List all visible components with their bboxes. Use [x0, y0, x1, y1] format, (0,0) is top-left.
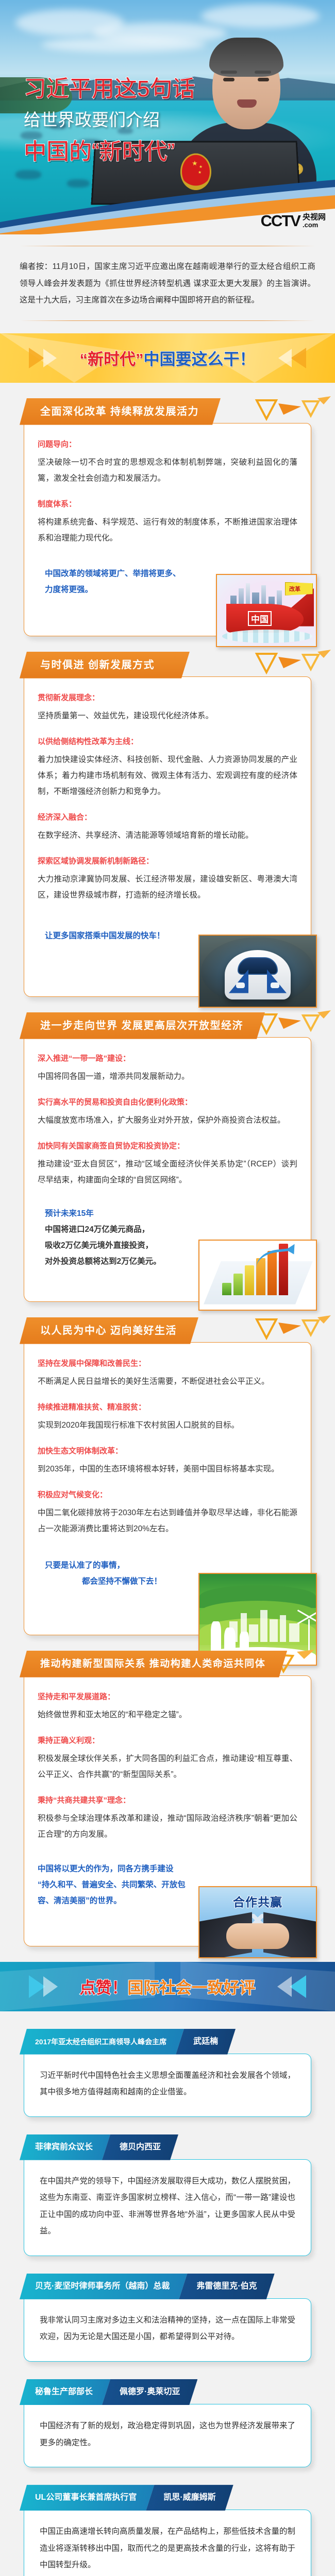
block-subtitle: 贯彻新发展理念：: [38, 690, 297, 706]
quote-body: 习近平新时代中国特色社会主义思想全面覆盖经济和社会发展各个领域，其中很多地方值得…: [24, 2054, 311, 2117]
block-subtitle: 秉持“共商共建共享”理念：: [38, 1793, 297, 1808]
section-card-5: 推动构建新型国际关系 推动构建人类命运共同体 坚持走和平发展道路： 始终做世界和…: [24, 1651, 311, 1946]
section-body-3: 深入推进“一带一路”建设： 中国将同各国一道，增添共同发展新动力。 实行高水平的…: [24, 1037, 311, 1302]
quote-body: 中国经济有了新的规划，政治稳定得到巩固，这也为世界经济发展带来了更多的确定性。: [24, 2404, 311, 2467]
arrow-left-icon: [277, 1976, 292, 1997]
cctv-logo-cn: 央视网: [303, 213, 326, 222]
section-card-3: 进一步走向世界 发展更高层次开放型经济 深入推进“一带一路”建设： 中国将同各国…: [24, 1012, 311, 1302]
forecast-line-1: 中国将进口24万亿美元商品，: [38, 1222, 297, 1238]
section-block: 加快生态文明体制改革： 到2035年，中国的生态环境将根本好转，美丽中国目标将基…: [38, 1444, 297, 1477]
handshake-caption: 合作共赢: [233, 1892, 282, 1910]
block-subtitle: 加快生态文明体制改革：: [38, 1444, 297, 1459]
quote-body: 我非常认同习主席对多边主义和法治精神的坚持，这一点在国际上非常受欢迎，因为无论是…: [24, 2298, 311, 2362]
hero-banner: 习近平用这5句话 给世界政要们介绍 中国的“新时代” ★ ★ ★: [0, 0, 335, 234]
triangle-decor: [254, 1315, 331, 1344]
train-windshield: [238, 957, 278, 975]
banner-yellow-blue-text: 中国要这么干！: [144, 350, 256, 368]
block-subtitle: 实行高水平的贸易和投资自由化便利化政策：: [38, 1095, 297, 1110]
section-banner-yellow: “新时代”中国要这么干！: [0, 333, 335, 383]
quote-name: 凯思·威廉姆斯: [146, 2485, 233, 2511]
block-text: 坚决破除一切不合时宜的思想观念和体制机制弊端，突破利益固化的藩篱，激发全社会创造…: [38, 458, 297, 483]
divider-bottom: [20, 320, 315, 321]
section-block: 深入推进“一带一路”建设： 中国将同各国一道，增添共同发展新动力。: [38, 1051, 297, 1084]
quote-name: 武廷楠: [176, 2029, 236, 2055]
quote-role: 秘鲁生产部部长: [20, 2379, 110, 2405]
wave-decor: [222, 630, 312, 643]
section-block: 积极应对气候变化： 中国二氧化碳排放将于2030年左右达到峰值并争取尽早达峰，非…: [38, 1487, 297, 1537]
block-text: 推动建设“亚太自贸区”，推动“区域全面经济伙伴关系协定”（RCEP）谈判尽早结束…: [38, 1160, 297, 1184]
block-text: 中国将同各国一道，增添共同发展新动力。: [38, 1072, 190, 1081]
block-text: 不断满足人民日益增长的美好生活需要，不断促进社会公平正义。: [38, 1377, 270, 1386]
quote-text: 我非常认同习主席对多边主义和法治精神的坚持，这一点在国际上非常受欢迎，因为无论是…: [40, 2312, 295, 2346]
train-body: [225, 950, 291, 999]
eyebrow-right: [255, 71, 271, 74]
eye-left: [223, 78, 234, 81]
quote-name: 德贝内西亚: [102, 2134, 178, 2160]
block-text: 到2035年，中国的生态环境将根本好转，美丽中国目标将基本实现。: [38, 1465, 279, 1473]
section-banner-blue: 点赞！国际社会一致好评: [0, 1962, 335, 2011]
block-text: 始终做世界和亚太地区的“和平稳定之锚”。: [38, 1710, 187, 1719]
triangle-decor: [254, 650, 331, 679]
block-subtitle: 探索区域协调发展新机制新路径：: [38, 854, 297, 869]
block-text: 大力推动京津冀协同发展、长江经济带发展，建设雄安新区、粤港澳大湾区，建设世界级城…: [38, 875, 297, 900]
cctv-logo: CCTV 央视网 .com: [261, 212, 326, 230]
block-subtitle: 问题导向：: [38, 437, 297, 452]
infographic-page: 习近平用这5句话 给世界政要们介绍 中国的“新时代” ★ ★ ★: [0, 0, 335, 2576]
growth-bar-chart-illustration: [198, 1240, 317, 1311]
section-highlight-4-line1: 只要是认准了的事情，: [38, 1557, 188, 1573]
block-subtitle: 以供给侧结构性改革为主线：: [38, 734, 297, 750]
block-subtitle: 坚持在发展中保障和改善民生：: [38, 1356, 297, 1371]
quote-role: 2017年亚太经合组织工商领导人峰会主席: [20, 2029, 184, 2055]
city-skyline-decor: [227, 1602, 305, 1642]
section-title-4: 以人民为中心 迈向美好生活: [20, 1317, 198, 1344]
quote-card-4: 秘鲁生产部部长 佩德罗·奥莱切亚 中国经济有了新的规划，政治稳定得到巩固，这也为…: [24, 2379, 311, 2467]
quote-role: 菲律宾前众议长: [20, 2134, 110, 2160]
quote-tabs: 秘鲁生产部部长 佩德罗·奥莱切亚: [20, 2379, 311, 2405]
section-body-5: 坚持走和平发展道路： 始终做世界和亚太地区的“和平稳定之锚”。 秉持正确义利观：…: [24, 1675, 311, 1946]
section-title-5: 推动构建新型国际关系 推动构建人类命运共同体: [20, 1651, 287, 1677]
quote-tabs: UL公司董事长兼首席执行官 凯思·威廉姆斯: [20, 2485, 311, 2511]
arrow-right-icon: [43, 349, 57, 367]
section-block: 制度体系： 将构建系统完备、科学规范、运行有效的制度体系，不断推进国家治理体系和…: [38, 497, 297, 546]
reform-flag-icon: 改革: [285, 582, 313, 596]
section-body-2: 贯彻新发展理念： 坚持质量第一、效益优先，建设现代化经济体系。 以供给侧结构性改…: [24, 676, 311, 997]
section-block: 以供给侧结构性改革为主线： 着力加快建设实体经济、科技创新、现代金融、人力资源协…: [38, 734, 297, 800]
section-block: 坚持在发展中保障和改善民生： 不断满足人民日益增长的美好生活需要，不断促进社会公…: [38, 1356, 297, 1389]
quote-name: 弗雷德里克·伯克: [179, 2274, 274, 2299]
arrow-left-icon: [278, 349, 292, 367]
section-block: 贯彻新发展理念： 坚持质量第一、效益优先，建设现代化经济体系。: [38, 690, 297, 724]
section-card-4: 以人民为中心 迈向美好生活 坚持在发展中保障和改善民生： 不断满足人民日益增长的…: [24, 1317, 311, 1635]
editor-note: 编者按：11月10日，国家主席习近平应邀出席在越南岘港举行的亚太经合组织工商领导…: [0, 246, 335, 320]
section-block: 探索区域协调发展新机制新路径： 大力推动京津冀协同发展、长江经济带发展，建设雄安…: [38, 854, 297, 903]
block-text: 坚持质量第一、效益优先，建设现代化经济体系。: [38, 711, 213, 720]
handshake-photo: 合作共赢: [198, 1886, 317, 1958]
quote-card-1: 2017年亚太经合组织工商领导人峰会主席 武廷楠 习近平新时代中国特色社会主义思…: [24, 2029, 311, 2117]
block-text: 中国二氧化碳排放将于2030年左右达到峰值并争取尽早达峰，非化石能源占一次能源消…: [38, 1509, 297, 1533]
section-block: 坚持走和平发展道路： 始终做世界和亚太地区的“和平稳定之锚”。: [38, 1689, 297, 1723]
section-block: 实行高水平的贸易和投资自由化便利化政策： 大幅度放宽市场准入，扩大服务业对外开放…: [38, 1095, 297, 1128]
quote-text: 习近平新时代中国特色社会主义思想全面覆盖经济和社会发展各个领域，其中很多地方值得…: [40, 2067, 295, 2101]
quote-name: 佩德罗·奥莱切亚: [102, 2379, 197, 2405]
section-body-1: 问题导向： 坚决破除一切不合时宜的思想观念和体制机制弊端，突破利益固化的藩篱，激…: [24, 423, 311, 636]
section-block: 问题导向： 坚决破除一切不合时宜的思想观念和体制机制弊端，突破利益固化的藩篱，激…: [38, 437, 297, 486]
section-block: 秉持正确义利观： 积极发展全球伙伴关系，扩大同各国的利益汇合点，推动建设“相互尊…: [38, 1733, 297, 1783]
arrow-left-icon: [290, 1975, 306, 1998]
block-subtitle: 积极应对气候变化：: [38, 1487, 297, 1503]
quote-card-2: 菲律宾前众议长 德贝内西亚 在中国共产党的领导下，中国经济发展取得巨大成功，数亿…: [24, 2134, 311, 2256]
hero-title-line3: 中国的“新时代”: [24, 133, 195, 166]
cloud-decor: [201, 4, 320, 28]
section-block: 持续推进精准扶贫、精准脱贫： 实现到2020年我国现行标准下农村贫困人口脱贫的目…: [38, 1400, 297, 1433]
section-block: 加快同有关国家商签自贸协定和投资协定： 推动建设“亚太自贸区”，推动“区域全面经…: [38, 1139, 297, 1188]
clasped-hands: [226, 1923, 289, 1949]
section-body-4: 坚持在发展中保障和改善民生： 不断满足人民日益增长的美好生活需要，不断促进社会公…: [24, 1342, 311, 1635]
quote-text: 中国正由高速增长转向高质量发展，在产品结构上，那些低技术含量的制造业将逐渐转移出…: [40, 2523, 295, 2574]
section-title-3: 进一步走向世界 发展更高层次开放型经济: [20, 1012, 265, 1039]
arrow-left-icon: [291, 348, 306, 368]
block-text: 实现到2020年我国现行标准下农村贫困人口脱贫的目标。: [38, 1421, 239, 1430]
triangle-decor: [254, 1010, 331, 1039]
block-text: 大幅度放宽市场准入，扩大服务业对外开放，保护外商投资合法权益。: [38, 1116, 286, 1125]
quote-tabs: 2017年亚太经合组织工商领导人峰会主席 武廷楠: [20, 2029, 311, 2055]
block-subtitle: 深入推进“一带一路”建设：: [38, 1051, 297, 1066]
ship-illustration: 中国 改革: [216, 574, 317, 647]
block-subtitle: 加快同有关国家商签自贸协定和投资协定：: [38, 1139, 297, 1154]
ship-hull-label: 中国: [248, 611, 272, 626]
quote-card-5: UL公司董事长兼首席执行官 凯思·威廉姆斯 中国正由高速增长转向高质量发展，在产…: [24, 2485, 311, 2576]
quote-role: UL公司董事长兼首席执行官: [20, 2485, 154, 2511]
quote-text: 在中国共产党的领导下，中国经济发展取得巨大成功，数亿人摆脱贫困，这些为东南亚、南…: [40, 2173, 295, 2240]
block-text: 在数字经济、共享经济、清洁能源等领域培育新的增长动能。: [38, 831, 254, 840]
block-text: 积极参与全球治理体系改革和建设，推动“国际政治经济秩序”朝着“更加公正合理”的方…: [38, 1814, 297, 1839]
section-highlight-5-line1: 中国将以更大的作为，同各方携手建设: [38, 1861, 198, 1877]
block-subtitle: 坚持走和平发展道路：: [38, 1689, 297, 1705]
block-subtitle: 经济深入融合：: [38, 810, 297, 825]
arrow-right-icon: [43, 1976, 58, 1997]
eyebrow-left: [221, 71, 237, 74]
section-block: 经济深入融合： 在数字经济、共享经济、清洁能源等领域培育新的增长动能。: [38, 810, 297, 843]
section-title-1: 全面深化改革 持续释放发展活力: [20, 398, 221, 425]
banner-blue-orange-text: 国际社会一致好评: [128, 1979, 256, 1997]
quote-tabs: 贝克·麦坚时律师事务所（越南）总裁 弗雷德里克·伯克: [20, 2274, 311, 2299]
section-card-1: 全面深化改革 持续释放发展活力 问题导向： 坚决破除一切不合时宜的思想观念和体制…: [24, 398, 311, 636]
quote-role: 贝克·麦坚时律师事务所（越南）总裁: [20, 2274, 187, 2299]
block-subtitle: 制度体系：: [38, 497, 297, 512]
section-highlight-4-line2: 都会坚持不懈做下去！: [38, 1573, 188, 1589]
high-speed-train-photo: [198, 935, 317, 1008]
block-text: 积极发展全球伙伴关系，扩大同各国的利益汇合点，推动建设“相互尊重、公平正义、合作…: [38, 1754, 297, 1779]
quote-card-3: 贝克·麦坚时律师事务所（越南）总裁 弗雷德里克·伯克 我非常认同习主席对多边主义…: [24, 2274, 311, 2362]
eye-right: [258, 78, 269, 81]
hero-title-line2: 给世界政要们介绍: [24, 106, 195, 131]
block-text: 着力加快建设实体经济、科技创新、现代金融、人力资源协同发展的产业体系；着力构建市…: [38, 755, 297, 796]
mouth: [237, 99, 257, 108]
triangle-decor: [254, 396, 331, 425]
section-title-2: 与时俱进 创新发展方式: [20, 652, 190, 679]
quote-body: 在中国共产党的领导下，中国经济发展取得巨大成功，数亿人摆脱贫困，这些为东南亚、南…: [24, 2159, 311, 2256]
quote-tabs: 菲律宾前众议长 德贝内西亚: [20, 2134, 311, 2160]
section-block: 秉持“共商共建共享”理念： 积极参与全球治理体系改革和建设，推动“国际政治经济秩…: [38, 1793, 297, 1842]
block-text: 将构建系统完备、科学规范、运行有效的制度体系，不断推进国家治理体系和治理能力现代…: [38, 518, 297, 543]
arrow-right-icon: [29, 348, 44, 368]
forecast-title: 预计未来15年: [38, 1206, 297, 1222]
cctv-logo-com: .com: [303, 222, 326, 229]
banner-blue-red-text: 点赞！: [80, 1979, 128, 1997]
banner-yellow-red-text: “新时代”: [80, 350, 144, 368]
quote-body: 中国正由高速增长转向高质量发展，在产品结构上，那些低技术含量的制造业将逐渐转移出…: [24, 2510, 311, 2576]
block-subtitle: 秉持正确义利观：: [38, 1733, 297, 1749]
section-highlight-5-tail: 的世界。: [90, 1896, 122, 1905]
block-subtitle: 持续推进精准扶贫、精准脱贫：: [38, 1400, 297, 1415]
hero-title-group: 习近平用这5句话 给世界政要们介绍 中国的“新时代”: [24, 70, 195, 166]
cctv-logo-text: CCTV: [261, 212, 300, 230]
hero-title-line1: 习近平用这5句话: [24, 70, 195, 103]
quote-text: 中国经济有了新的规划，政治稳定得到巩固，这也为世界经济发展带来了更多的确定性。: [40, 2418, 295, 2451]
section-highlight-1: 中国改革的领域将更广、举措将更多、力度将更强。: [38, 566, 188, 598]
section-card-2: 与时俱进 创新发展方式 贯彻新发展理念： 坚持质量第一、效益优先，建设现代化经济…: [24, 652, 311, 997]
